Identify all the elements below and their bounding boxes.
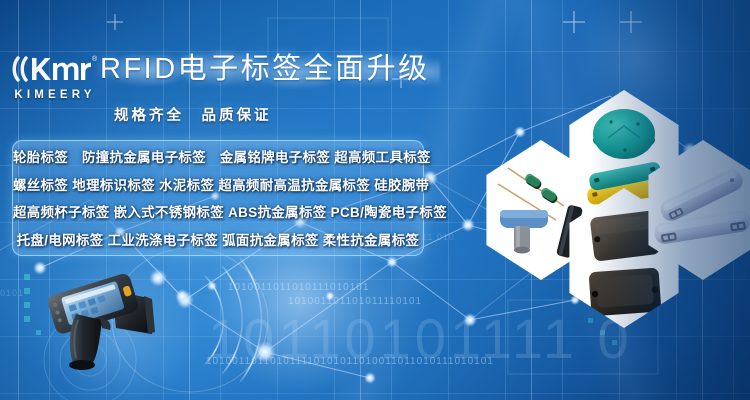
vignette-overlay bbox=[0, 0, 750, 400]
rfid-promo-banner: 10110101111 0 1010011011010111010101 101… bbox=[0, 0, 750, 400]
